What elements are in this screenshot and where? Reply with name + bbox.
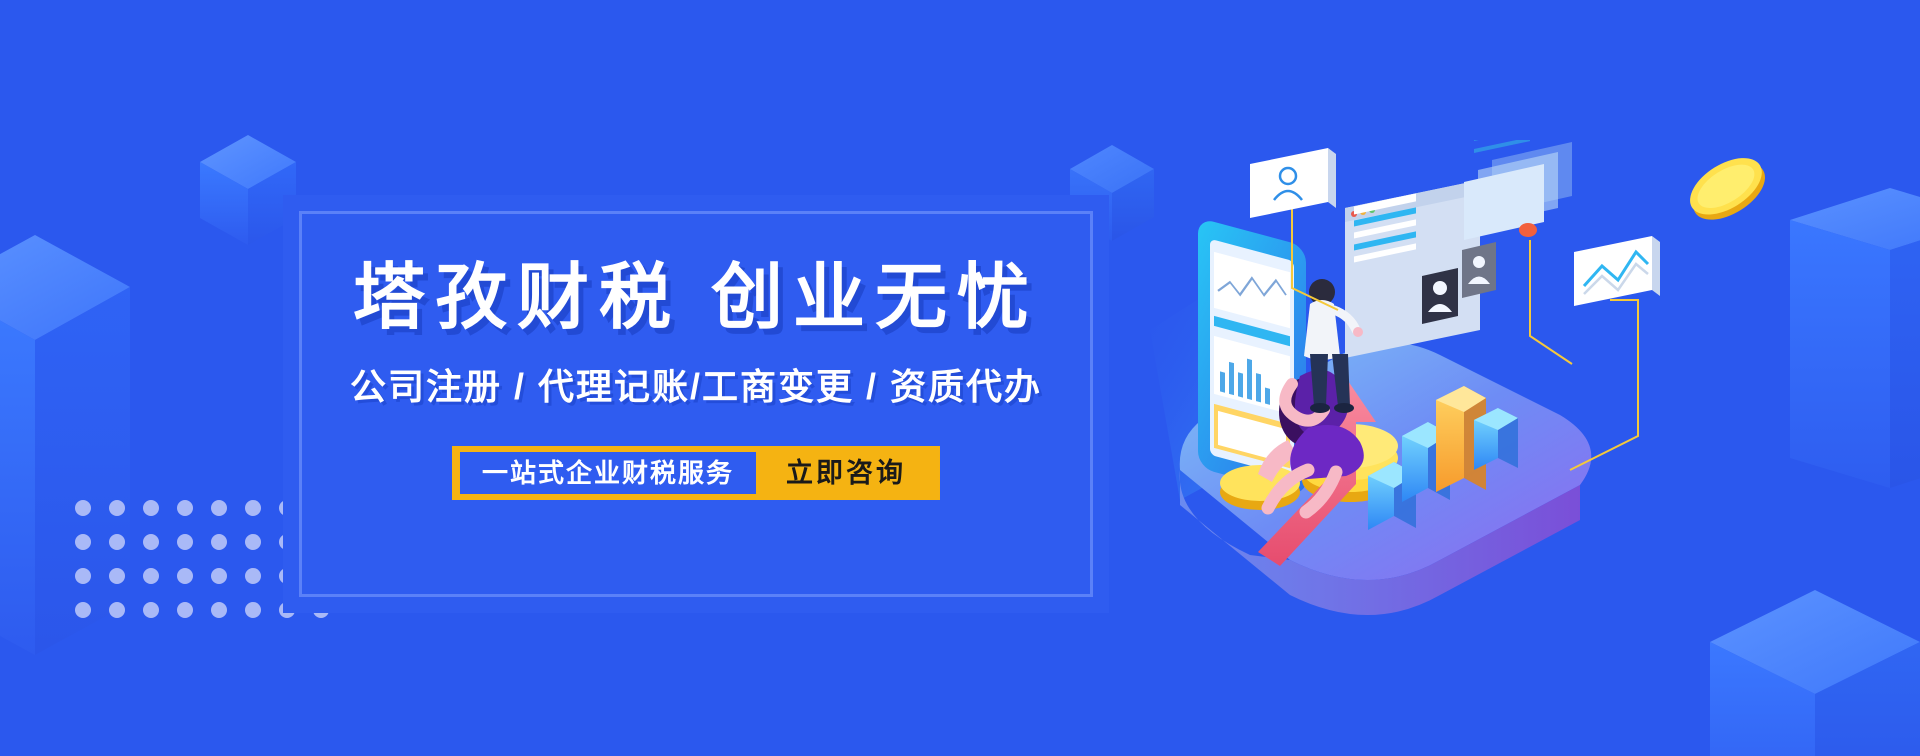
tower-right-lower-icon xyxy=(1710,590,1920,756)
profile-card xyxy=(1250,148,1336,218)
services-subtitle: 公司注册 / 代理记账/工商变更 / 资质代办 xyxy=(286,358,1106,410)
cta-bar: 一站式企业财税服务 立即咨询 xyxy=(452,446,940,500)
headline-panel: 塔孜财税 创业无忧 公司注册 / 代理记账/工商变更 / 资质代办 一站式企业财… xyxy=(286,198,1106,610)
tower-right-upper-icon xyxy=(1790,188,1920,488)
business-finance-illustration xyxy=(1140,140,1700,620)
promo-banner: 塔孜财税 创业无忧 公司注册 / 代理记账/工商变更 / 资质代办 一站式企业财… xyxy=(0,0,1920,756)
line-chart-card xyxy=(1574,236,1660,306)
page-title: 塔孜财税 创业无忧 xyxy=(286,238,1106,343)
cube-top-left-icon xyxy=(200,135,296,245)
cta-tagline: 一站式企业财税服务 xyxy=(460,452,756,494)
consult-now-button[interactable]: 立即咨询 xyxy=(756,452,932,494)
credit-card xyxy=(1464,140,1572,240)
